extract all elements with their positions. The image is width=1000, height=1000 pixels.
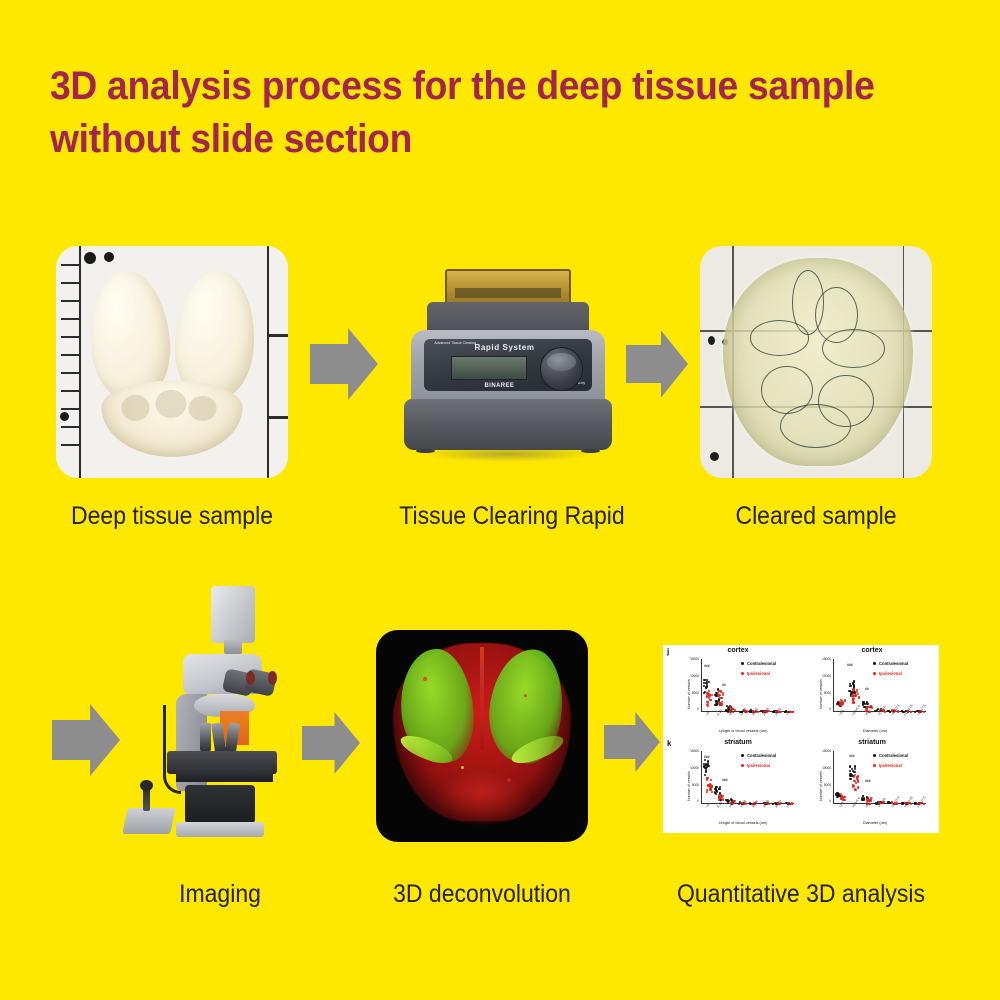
chart-striatum-diameter: striatum Number of vessels 15000 10000 5… [809,739,935,829]
chart-xlabel: Diameter (um) [823,821,927,825]
background-dot [708,336,715,345]
legend-swatch [873,754,876,757]
caption-imaging: Imaging [119,880,321,909]
data-point [722,692,724,694]
image-fluorescence-microscope [110,580,330,865]
caption-3d-deconvolution: 3D deconvolution [370,880,594,909]
legend-swatch [741,754,744,757]
infographic-canvas: 3D analysis process for the deep tissue … [0,0,1000,1000]
legend-ipsilesional: Ipsilesional [741,671,770,676]
legend-swatch [873,672,876,675]
legend-swatch [741,672,744,675]
cleared-brain [723,258,913,467]
chart-xlabel: Length of blood vessels (um) [691,821,795,825]
data-point [709,783,711,785]
data-point [901,710,903,712]
data-point [716,790,718,792]
data-point [705,770,707,772]
device-body: Advanced Tissue Clearing Rapid System BI… [411,330,606,409]
arrow-shaft [604,725,636,759]
data-point [839,703,841,705]
image-quantitative-analysis-figure: j k cortex Number of vessels 15000 10000… [663,645,939,833]
device-base [404,399,613,450]
ruler-dot [84,252,96,264]
data-point [852,701,854,703]
device-brand-text: BINAREE [485,383,515,389]
caption-cleared-sample: Cleared sample [709,502,922,531]
significance-marker: ### [704,664,710,668]
data-point [706,692,708,694]
data-point [923,803,925,805]
ruler-dot [104,252,114,262]
arrow-shaft [52,720,91,760]
device-title-text: Rapid System [474,343,534,352]
significance-marker: ## [865,687,869,691]
ruler-dot [60,412,69,421]
data-point [854,765,856,767]
data-point [714,704,716,706]
chart-ytick: 15000 [679,657,699,661]
chart-axes [701,751,794,804]
microscope-foot [176,822,264,836]
legend-contralesional: Contralesional [873,753,908,758]
microscope-objective [200,723,211,752]
data-point [706,791,708,793]
chart-ytick: 0 [811,707,831,711]
data-point [851,694,853,696]
device-lid-band [455,288,562,298]
significance-marker: ## [722,683,726,687]
data-point [839,701,841,703]
data-point [854,768,856,770]
chart-ytick: 0 [679,799,699,803]
chart-ytick: 15000 [811,749,831,753]
microscope-camera [211,586,255,643]
chart-ytick: 0 [679,707,699,711]
chart-ytick: 5000 [811,691,831,695]
arrow-shaft [302,726,336,761]
chart-title: cortex [809,647,935,654]
microscope-illustration [110,580,330,865]
chart-ytick: 5000 [679,783,699,787]
arrow-3 [604,712,660,772]
caption-quantitative-3d-analysis: Quantitative 3D analysis [667,880,936,909]
microscope-camera-mount [224,640,242,654]
image-cleared-sample [700,246,932,478]
legend-contralesional: Contralesional [741,661,776,666]
data-point [841,798,843,800]
data-point [852,785,854,787]
significance-marker: ### [849,754,855,758]
data-point [850,685,852,687]
arrow-head [334,712,360,774]
legend-ipsilesional: Ipsilesional [873,763,902,768]
chart-ytick: 5000 [679,691,699,695]
chart-ytick: 10000 [679,766,699,770]
significance-marker: ### [847,663,853,667]
legend-ipsilesional: Ipsilesional [741,763,770,768]
data-point [722,798,724,800]
chart-cortex-length: cortex Number of vessels 15000 10000 500… [677,647,799,737]
cerebellum-region [431,770,533,825]
data-point [704,759,706,761]
arrow-shaft [626,345,662,383]
data-point [835,794,837,796]
midline-vessel [480,647,483,749]
chart-ytick: 10000 [811,674,831,678]
legend-ipsilesional: Ipsilesional [873,671,902,676]
data-point [857,780,859,782]
chart-xtick: 5-10 [716,709,723,717]
data-point [703,679,705,681]
chart-xlabel: Diameter (um) [823,729,927,733]
image-deep-tissue-sample [56,246,288,478]
legend-swatch [741,764,744,767]
significance-marker: ### [865,779,871,783]
cerebellum [102,381,242,457]
panel-letter-j: j [667,647,669,656]
background-dot [710,452,719,461]
data-point [718,797,720,799]
data-point [923,711,925,713]
chart-ytick: 15000 [811,657,831,661]
chart-xtick: 5-10 [716,801,723,809]
data-point [863,798,865,800]
data-point [720,690,722,692]
legend-swatch [873,662,876,665]
chart-title: striatum [677,739,799,746]
arrow-shaft [310,344,349,384]
arrow-head [635,712,660,772]
microscope-stage-lower [176,768,273,782]
chart-xtick: <5 [705,803,710,808]
page-title: 3D analysis process for the deep tissue … [50,60,887,166]
data-point [849,778,851,780]
data-point [726,800,728,802]
deconvolution-render [376,630,588,842]
device-subtitle-text: Advanced Tissue Clearing [434,341,476,345]
data-point [887,710,889,712]
data-point [705,687,707,689]
data-point [858,696,860,698]
data-point [862,701,864,703]
significance-marker: ### [722,778,728,782]
arrow-head [348,328,378,400]
data-point [715,786,717,788]
data-point [715,793,717,795]
microscope-cable [163,705,181,794]
arrow-2 [626,330,688,398]
chart-ytick: 10000 [679,674,699,678]
microscope-eyecup [268,671,277,685]
data-point [704,774,706,776]
arrow-head [661,330,688,398]
chart-xlabel: Length of blood vessels (um) [691,729,795,733]
chart-xtick: <5 [705,711,710,716]
image-3d-deconvolution [376,630,588,842]
chart-striatum-length: striatum Number of vessels 15000 10000 5… [677,739,799,829]
chart-ytick: 15000 [679,749,699,753]
device-control-panel: Advanced Tissue Clearing Rapid System BI… [424,339,592,391]
microscope-base [185,785,255,825]
data-point [848,690,850,692]
device-screen [451,356,527,380]
data-point [842,701,844,703]
arrow-1 [310,328,378,400]
data-point [842,702,844,704]
chart-ytick: 0 [811,799,831,803]
data-point [910,711,912,713]
image-tissue-clearing-device: Advanced Tissue Clearing Rapid System BI… [392,246,624,478]
chart-ytick: 5000 [811,783,831,787]
chart-title: cortex [677,647,799,654]
data-point [853,771,855,773]
microscope-joystick-knob[interactable] [140,780,153,791]
chart-cortex-diameter: cortex Number of vessels 15000 10000 500… [809,647,935,737]
legend-swatch [741,662,744,665]
microscope-joystick-base[interactable] [123,808,177,834]
caption-deep-tissue-sample: Deep tissue sample [65,502,278,531]
opaque-brain [88,267,255,457]
data-point [855,782,857,784]
legend-swatch [873,764,876,767]
panel-letter-k: k [667,739,671,748]
arrow-5 [302,712,360,774]
legend-contralesional: Contralesional [873,661,908,666]
device-knob-highlight [547,353,575,371]
chart-ytick: 10000 [811,766,831,770]
legend-contralesional: Contralesional [741,753,776,758]
chart-title: striatum [809,739,935,746]
caption-tissue-clearing-rapid: Tissue Clearing Rapid [391,502,634,531]
